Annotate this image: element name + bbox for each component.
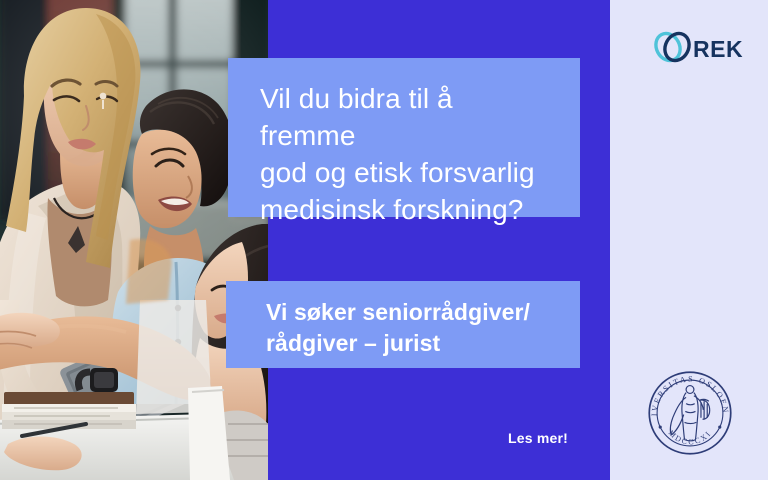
job-title-line-2: rådgiver – jurist — [266, 330, 440, 356]
interlocking-rings-icon — [652, 27, 692, 72]
read-more-link[interactable]: Les mer! — [508, 430, 568, 446]
headline-line-3: medisinsk forskning? — [260, 194, 523, 225]
headline-box: Vil du bidra til å fremmegod og etisk fo… — [228, 58, 580, 217]
headline-text: Vil du bidra til å fremmegod og etisk fo… — [260, 80, 554, 228]
headline-line-2: god og etisk forsvarlig — [260, 157, 535, 188]
job-title-line-1: Vi søker seniorrådgiver/ — [266, 299, 530, 325]
headline-line-1: Vil du bidra til å fremme — [260, 83, 453, 151]
seal-bottom-text: MDCCCXI — [667, 428, 714, 446]
job-title-box: Vi søker seniorrådgiver/rådgiver – juris… — [226, 281, 580, 368]
rek-wordmark: REK — [693, 36, 743, 63]
uio-seal: UNIVERSITAS OSLOENSIS MDCCCXI — [643, 366, 737, 460]
rek-logo[interactable]: REK — [652, 28, 736, 70]
recruitment-banner: Vil du bidra til å fremmegod og etisk fo… — [0, 0, 768, 480]
job-title-text: Vi søker seniorrådgiver/rådgiver – juris… — [266, 297, 558, 359]
